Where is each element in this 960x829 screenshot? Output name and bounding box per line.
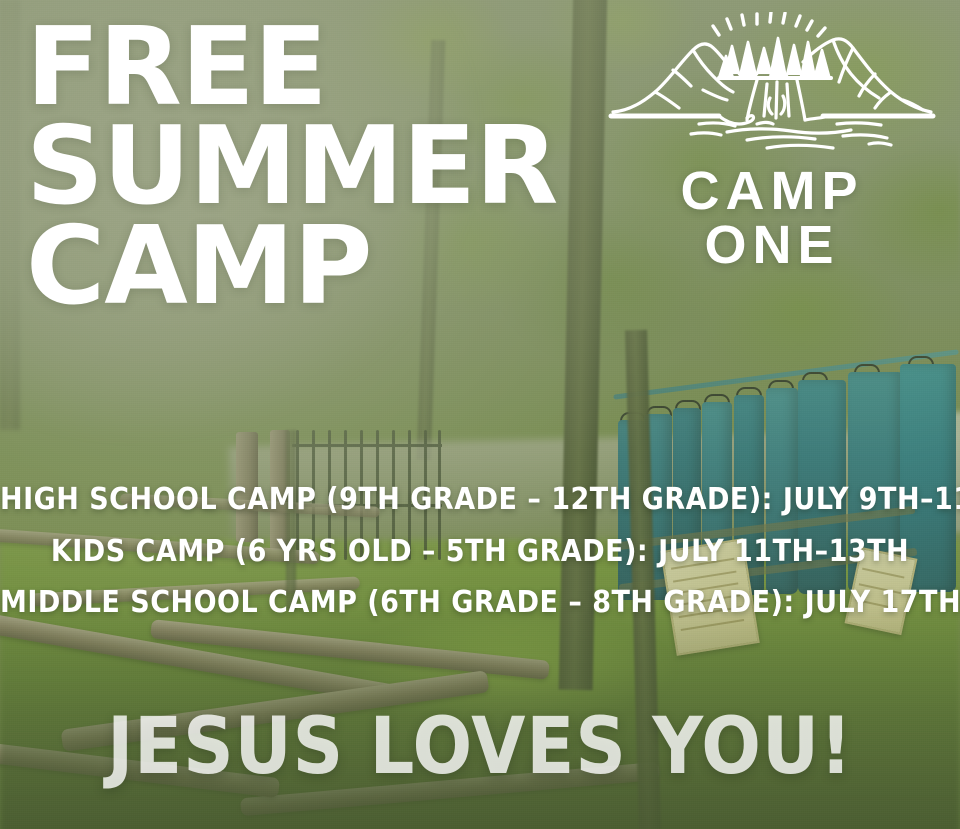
brand-name: CAMP ONE (604, 164, 940, 272)
tagline: JESUS LOVES YOU! (0, 708, 960, 786)
session-row: KIDS CAMP (6 YRS OLD – 5TH GRADE): JULY … (0, 526, 960, 578)
camp-one-logo: CAMP ONE (604, 12, 940, 272)
flyer-content: FREE SUMMER CAMP (0, 0, 960, 829)
session-row: MIDDLE SCHOOL CAMP (6TH GRADE – 8TH GRAD… (0, 577, 960, 629)
session-list: HIGH SCHOOL CAMP (9TH GRADE – 12TH GRADE… (0, 474, 960, 629)
headline-line-3: CAMP (26, 217, 606, 316)
mountain-waterfall-lake-icon (607, 12, 937, 162)
headline-line-2: SUMMER (26, 117, 606, 216)
session-row: HIGH SCHOOL CAMP (9TH GRADE – 12TH GRADE… (0, 474, 960, 526)
headline-line-1: FREE (26, 18, 606, 117)
page-title: FREE SUMMER CAMP (26, 18, 606, 316)
camp-flyer: FREE SUMMER CAMP (0, 0, 960, 829)
